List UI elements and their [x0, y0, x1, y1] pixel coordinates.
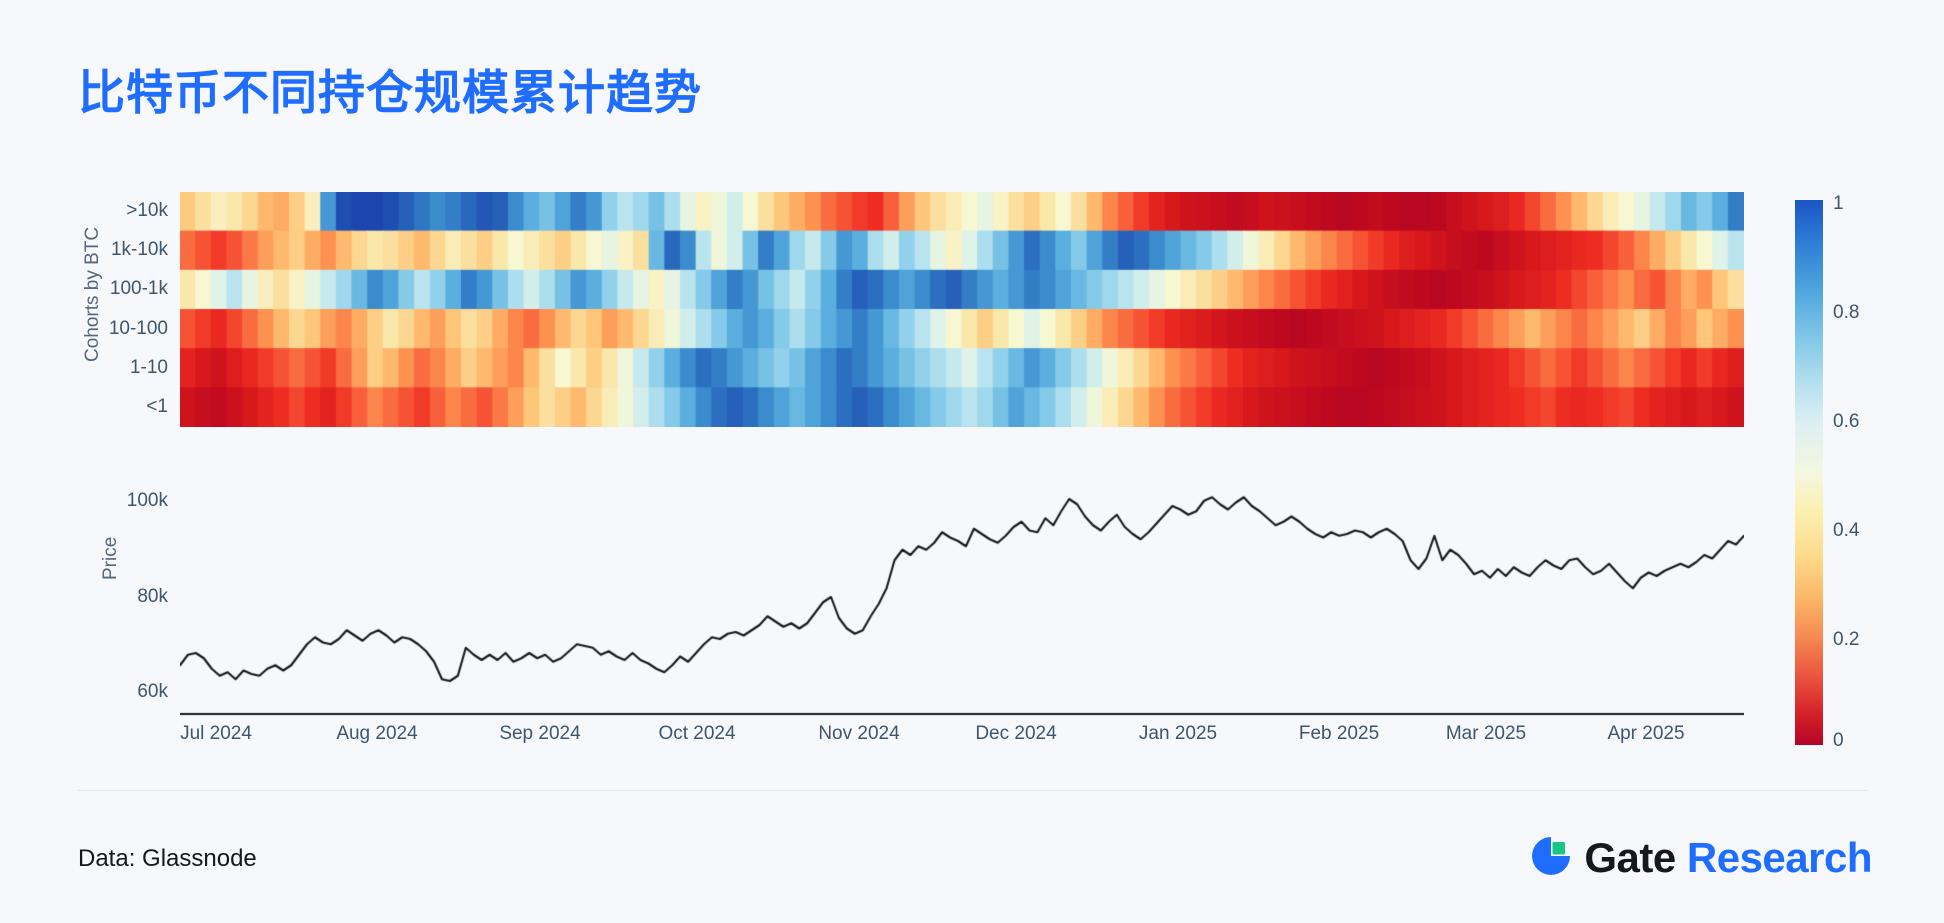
price-y-axis: 100k 80k 60k	[0, 470, 176, 720]
heatmap-y-tick: 100-1k	[110, 278, 168, 300]
price-line-chart[interactable]	[180, 470, 1744, 720]
x-tick-sep-2024: Sep 2024	[499, 723, 580, 745]
colorbar-tick: 0.8	[1833, 302, 1859, 324]
price-y-tick: 80k	[137, 586, 168, 608]
x-axis: Jul 2024 Aug 2024 Sep 2024 Oct 2024 Nov …	[180, 723, 1744, 753]
x-tick-apr-2025: Apr 2025	[1607, 723, 1684, 745]
brand-research-text: Research	[1687, 834, 1872, 881]
x-tick-feb-2025: Feb 2025	[1299, 723, 1379, 745]
page-title: 比特币不同持仓规模累计趋势	[78, 54, 702, 123]
cohort-heatmap[interactable]	[180, 192, 1744, 427]
heatmap-y-tick: >10k	[126, 200, 168, 222]
colorbar-gradient	[1795, 200, 1823, 745]
brand-gate-text: Gate	[1584, 834, 1675, 881]
brand-wordmark: Gate Research	[1584, 834, 1872, 882]
heatmap-y-axis: Cohorts by BTC >10k 1k-10k 100-1k 10-100…	[0, 192, 176, 427]
x-tick-nov-2024: Nov 2024	[818, 723, 899, 745]
chart-figure: Cohorts by BTC >10k 1k-10k 100-1k 10-100…	[0, 140, 1944, 780]
gate-research-logo: Gate Research	[1528, 833, 1872, 883]
colorbar-tick: 0	[1833, 730, 1844, 752]
heatmap-y-tick: 1-10	[130, 357, 168, 379]
x-tick-mar-2025: Mar 2025	[1446, 723, 1526, 745]
colorbar-tick: 0.4	[1833, 520, 1859, 542]
colorbar: 1 0.8 0.6 0.4 0.2 0	[1795, 200, 1915, 745]
price-y-tick: 100k	[127, 490, 168, 512]
price-y-axis-title: Price	[100, 537, 122, 580]
colorbar-tick: 0.6	[1833, 411, 1859, 433]
x-tick-dec-2024: Dec 2024	[975, 723, 1056, 745]
gate-logo-icon	[1528, 833, 1574, 884]
price-y-tick: 60k	[137, 681, 168, 703]
x-tick-aug-2024: Aug 2024	[336, 723, 417, 745]
heatmap-y-tick: 10-100	[109, 318, 168, 340]
x-tick-oct-2024: Oct 2024	[658, 723, 735, 745]
x-tick-jul-2024: Jul 2024	[180, 723, 252, 745]
heatmap-canvas[interactable]	[180, 192, 1744, 427]
x-tick-jan-2025: Jan 2025	[1139, 723, 1217, 745]
infographic-page: 比特币不同持仓规模累计趋势 Cohorts by BTC >10k 1k-10k…	[0, 0, 1944, 923]
colorbar-tick: 1	[1833, 193, 1844, 215]
colorbar-tick: 0.2	[1833, 629, 1859, 651]
price-canvas[interactable]	[180, 470, 1744, 720]
footer-divider	[78, 790, 1868, 791]
heatmap-y-axis-title: Cohorts by BTC	[82, 227, 104, 362]
heatmap-y-tick: 1k-10k	[111, 239, 168, 261]
data-source-label: Data: Glassnode	[78, 845, 257, 873]
heatmap-y-tick: <1	[146, 396, 168, 418]
brand-space	[1676, 834, 1687, 881]
